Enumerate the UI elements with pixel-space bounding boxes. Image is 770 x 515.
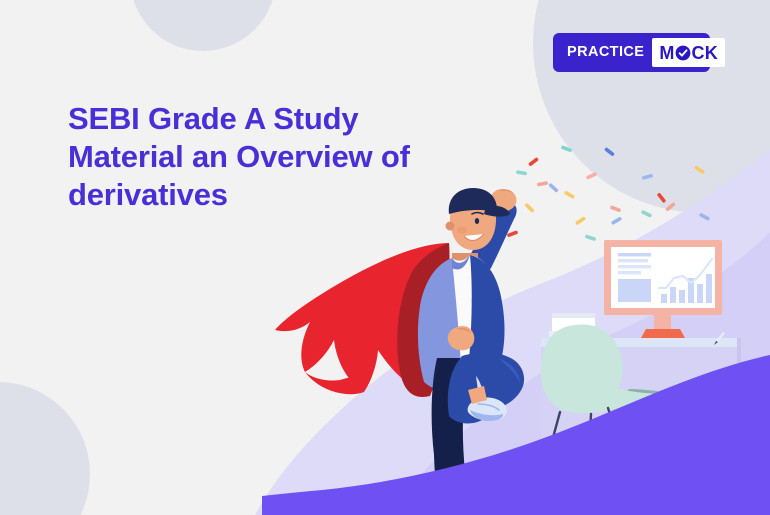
eye — [475, 218, 479, 224]
chart-bar-2 — [670, 287, 676, 303]
chart-bar-3 — [679, 290, 685, 303]
chart-bar-5 — [697, 284, 703, 303]
monitor-base — [641, 329, 685, 338]
logo-mock-ck: CK — [692, 44, 718, 62]
chart-bar-6 — [706, 274, 712, 303]
chart-bar-1 — [661, 294, 667, 303]
logo-mock-plate: M CK — [652, 38, 725, 67]
page-title: SEBI Grade A Study Material an Overview … — [68, 100, 438, 214]
brand-logo[interactable]: PRACTICE M CK — [554, 34, 709, 71]
check-circle-icon — [675, 45, 691, 61]
cheek — [457, 227, 467, 234]
screen-image-block — [618, 279, 651, 302]
illustration-scene — [0, 0, 770, 515]
ear — [446, 222, 455, 231]
logo-practice-text: PRACTICE — [558, 45, 652, 60]
banner-root: SEBI Grade A Study Material an Overview … — [0, 0, 770, 515]
monitor-neck — [654, 315, 671, 330]
logo-mock-m: M — [659, 44, 674, 62]
